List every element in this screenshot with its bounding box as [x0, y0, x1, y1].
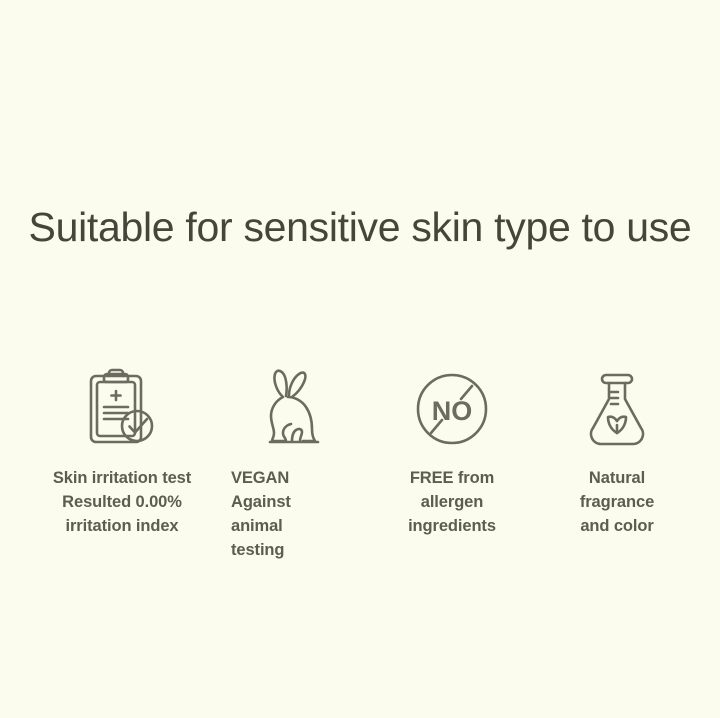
feature-caption: VEGAN Against animal testing: [221, 466, 367, 562]
no-icon-label: NO: [432, 396, 473, 426]
feature-item-natural: Natural fragrance and color: [537, 366, 697, 538]
promo-panel: Suitable for sensitive skin type to use …: [0, 0, 720, 718]
rabbit-icon: [258, 366, 330, 452]
feature-caption: Skin irritation test Resulted 0.00% irri…: [53, 466, 191, 538]
feature-list: Skin irritation test Resulted 0.00% irri…: [0, 366, 720, 562]
flask-leaf-icon: [581, 366, 653, 452]
feature-caption: FREE from allergen ingredients: [408, 466, 496, 538]
no-prohibition-icon: NO: [409, 366, 495, 452]
feature-item-skin-irritation: Skin irritation test Resulted 0.00% irri…: [23, 366, 221, 538]
feature-caption: Natural fragrance and color: [580, 466, 654, 538]
clipboard-check-icon: [81, 366, 163, 452]
feature-item-allergen-free: NO FREE from allergen ingredients: [367, 366, 537, 538]
feature-item-vegan: VEGAN Against animal testing: [221, 366, 367, 562]
page-title: Suitable for sensitive skin type to use: [0, 199, 720, 256]
